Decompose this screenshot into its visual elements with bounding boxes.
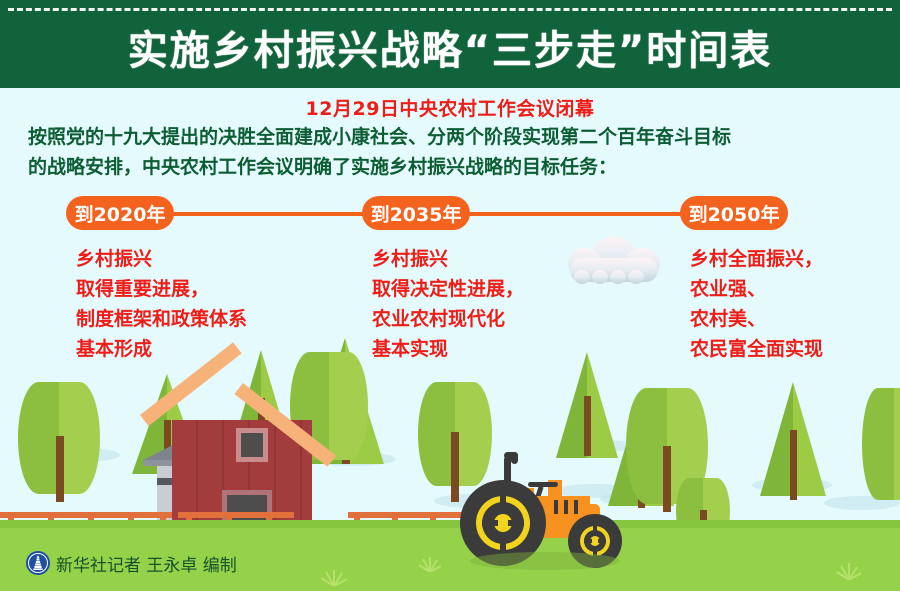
infographic-poster: 实施乡村振兴战略“三步走”时间表 12月29日中央农村工作会议闭幕 按照党的十九… — [0, 0, 900, 591]
ground-edge — [0, 520, 900, 528]
milestone-pill-2020[interactable]: 到2020年 — [66, 196, 174, 230]
tractor-illustration — [460, 452, 650, 562]
credit-line: 新华社记者 王永卓 编制 — [56, 551, 237, 576]
milestone-2050-line-4: 农民富全面实现 — [690, 334, 823, 364]
timeline-connector-2 — [456, 212, 692, 216]
tree-trunk — [56, 436, 64, 502]
banner-dashed-line — [8, 8, 892, 11]
tractor-shadow — [470, 552, 620, 570]
grass-tuft — [836, 562, 862, 585]
milestone-2035-line-2: 取得决定性进展， — [372, 274, 524, 304]
tree-trunk — [584, 396, 591, 456]
lede-line-1: 按照党的十九大提出的决胜全面建成小康社会、分两个阶段实现第二个百年奋斗目标 — [28, 122, 874, 152]
milestone-pill-2050[interactable]: 到2050年 — [680, 196, 788, 230]
milestone-text-2035: 乡村振兴 取得决定性进展， 农业农村现代化 基本实现 — [372, 244, 524, 364]
lede-line-2: 的战略安排，中央农村工作会议明确了实施乡村振兴战略的目标任务： — [28, 152, 874, 182]
milestone-2020-line-2: 取得重要进展， — [76, 274, 247, 304]
tree-trunk — [663, 446, 671, 512]
cloud-icon — [566, 236, 662, 284]
round-tree — [862, 388, 900, 500]
milestone-2035-line-4: 基本实现 — [372, 334, 524, 364]
milestone-2035-line-3: 农业农村现代化 — [372, 304, 524, 334]
milestone-text-2020: 乡村振兴 取得重要进展， 制度框架和政策体系 基本形成 — [76, 244, 247, 364]
milestone-2020-line-4: 基本形成 — [76, 334, 247, 364]
lede-paragraph: 按照党的十九大提出的决胜全面建成小康社会、分两个阶段实现第二个百年奋斗目标 的战… — [28, 122, 874, 182]
milestone-2020-line-3: 制度框架和政策体系 — [76, 304, 247, 334]
grass-tuft — [418, 556, 442, 577]
timeline-connector-1 — [150, 212, 380, 216]
tree-trunk — [790, 430, 797, 500]
milestone-2020-line-1: 乡村振兴 — [76, 244, 247, 274]
milestone-text-2050: 乡村全面振兴， 农业强、 农村美、 农民富全面实现 — [690, 244, 823, 364]
tree-trunk — [451, 432, 459, 502]
grass-tuft — [320, 568, 348, 591]
xinhua-logo-icon — [26, 551, 50, 575]
milestone-pill-2035[interactable]: 到2035年 — [362, 196, 470, 230]
page-title: 实施乡村振兴战略“三步走”时间表 — [0, 18, 900, 76]
milestone-2050-line-2: 农业强、 — [690, 274, 823, 304]
milestone-2050-line-3: 农村美、 — [690, 304, 823, 334]
subheadline: 12月29日中央农村工作会议闭幕 — [0, 94, 900, 121]
milestone-2035-line-1: 乡村振兴 — [372, 244, 524, 274]
milestone-2050-line-1: 乡村全面振兴， — [690, 244, 823, 274]
